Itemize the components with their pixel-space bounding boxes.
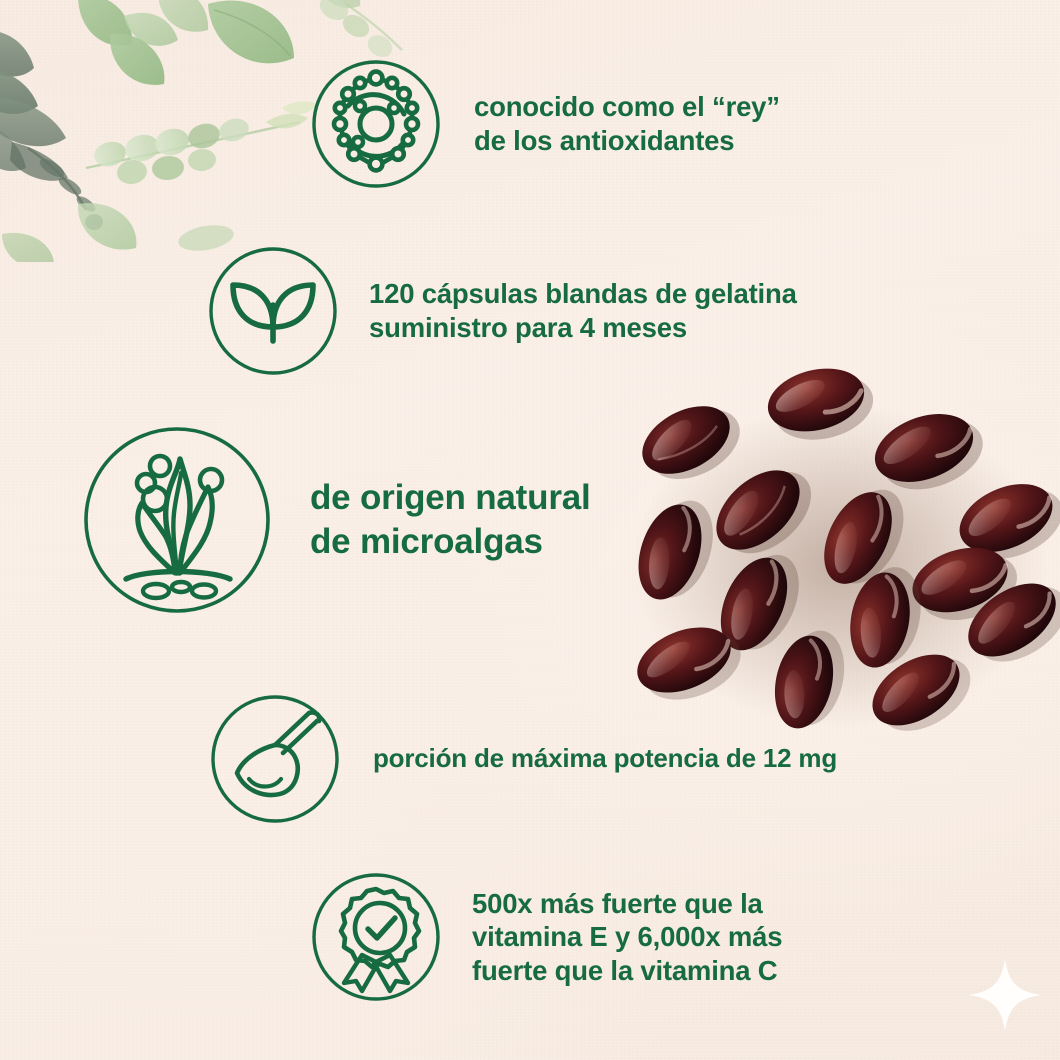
feature-text-strength: 500x más fuerte que la vitamina E y 6,00… (472, 887, 782, 988)
infographic-canvas: conocido como el “rey” de los antioxidan… (0, 0, 1060, 1060)
award-rosette-check-icon (310, 871, 442, 1003)
feature-row-strength: 500x más fuerte que la vitamina E y 6,00… (310, 871, 782, 1003)
molecule-antioxidant-icon (310, 58, 442, 190)
sprout-leaves-icon (207, 245, 339, 377)
feature-text-capsules: 120 cápsulas blandas de gelatina suminis… (369, 277, 797, 344)
seaweed-algae-icon (80, 423, 274, 617)
feature-text-potency: porción de máxima potencia de 12 mg (373, 743, 837, 775)
feature-row-capsules: 120 cápsulas blandas de gelatina suminis… (207, 245, 797, 377)
feature-text-antioxidant: conocido como el “rey” de los antioxidan… (474, 90, 780, 157)
feature-row-microalgae: de origen natural de microalgas (80, 423, 591, 617)
spoon-scoop-icon (209, 693, 341, 825)
feature-row-antioxidant: conocido como el “rey” de los antioxidan… (310, 58, 780, 190)
feature-text-microalgae: de origen natural de microalgas (310, 476, 591, 564)
feature-row-potency: porción de máxima potencia de 12 mg (209, 693, 837, 825)
